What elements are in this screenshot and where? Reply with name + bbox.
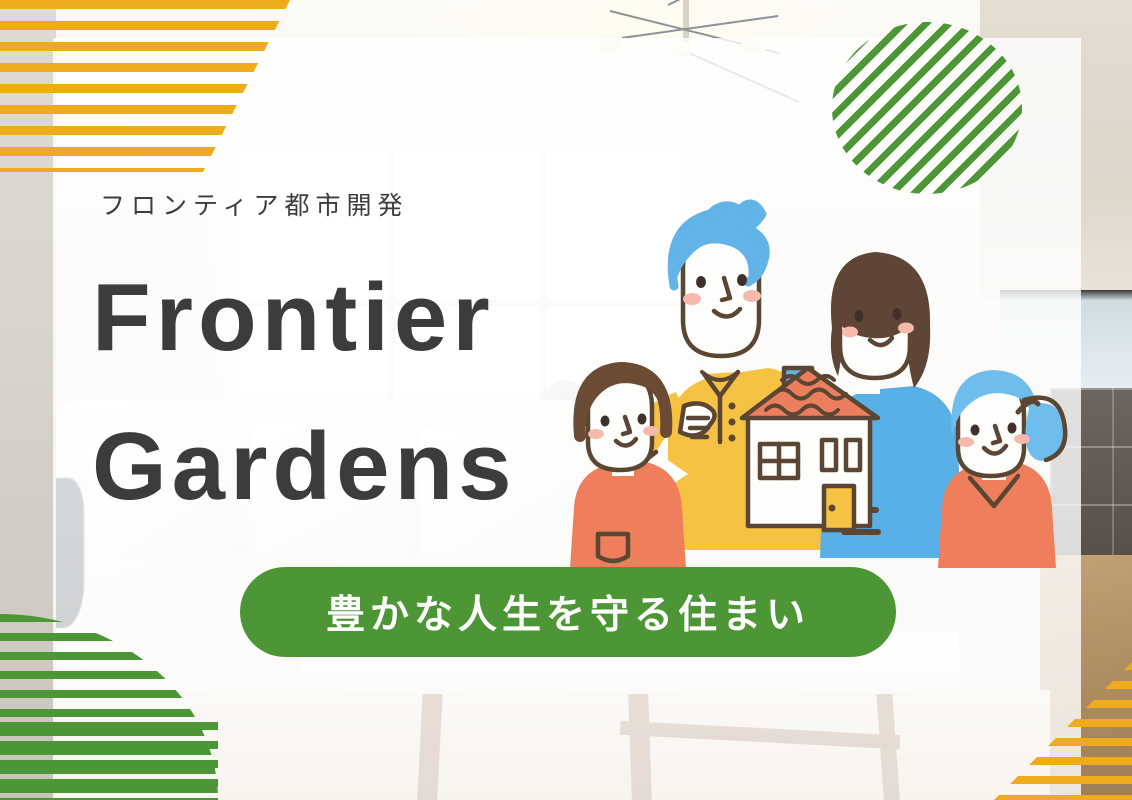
bottom-left-green-stripe-decor-lower	[0, 722, 218, 800]
top-right-green-striped-circle-decor	[832, 22, 1022, 194]
page-title: Frontier Gardens	[92, 244, 732, 542]
tagline-cta-button[interactable]: 豊かな人生を守る住まい	[240, 567, 896, 657]
company-eyebrow: フロンティア都市開発	[100, 186, 732, 222]
banner-canvas: フロンティア都市開発 Frontier Gardens 豊かな人生を守る住まい	[0, 0, 1132, 800]
headline-block: フロンティア都市開発 Frontier Gardens	[92, 186, 732, 542]
